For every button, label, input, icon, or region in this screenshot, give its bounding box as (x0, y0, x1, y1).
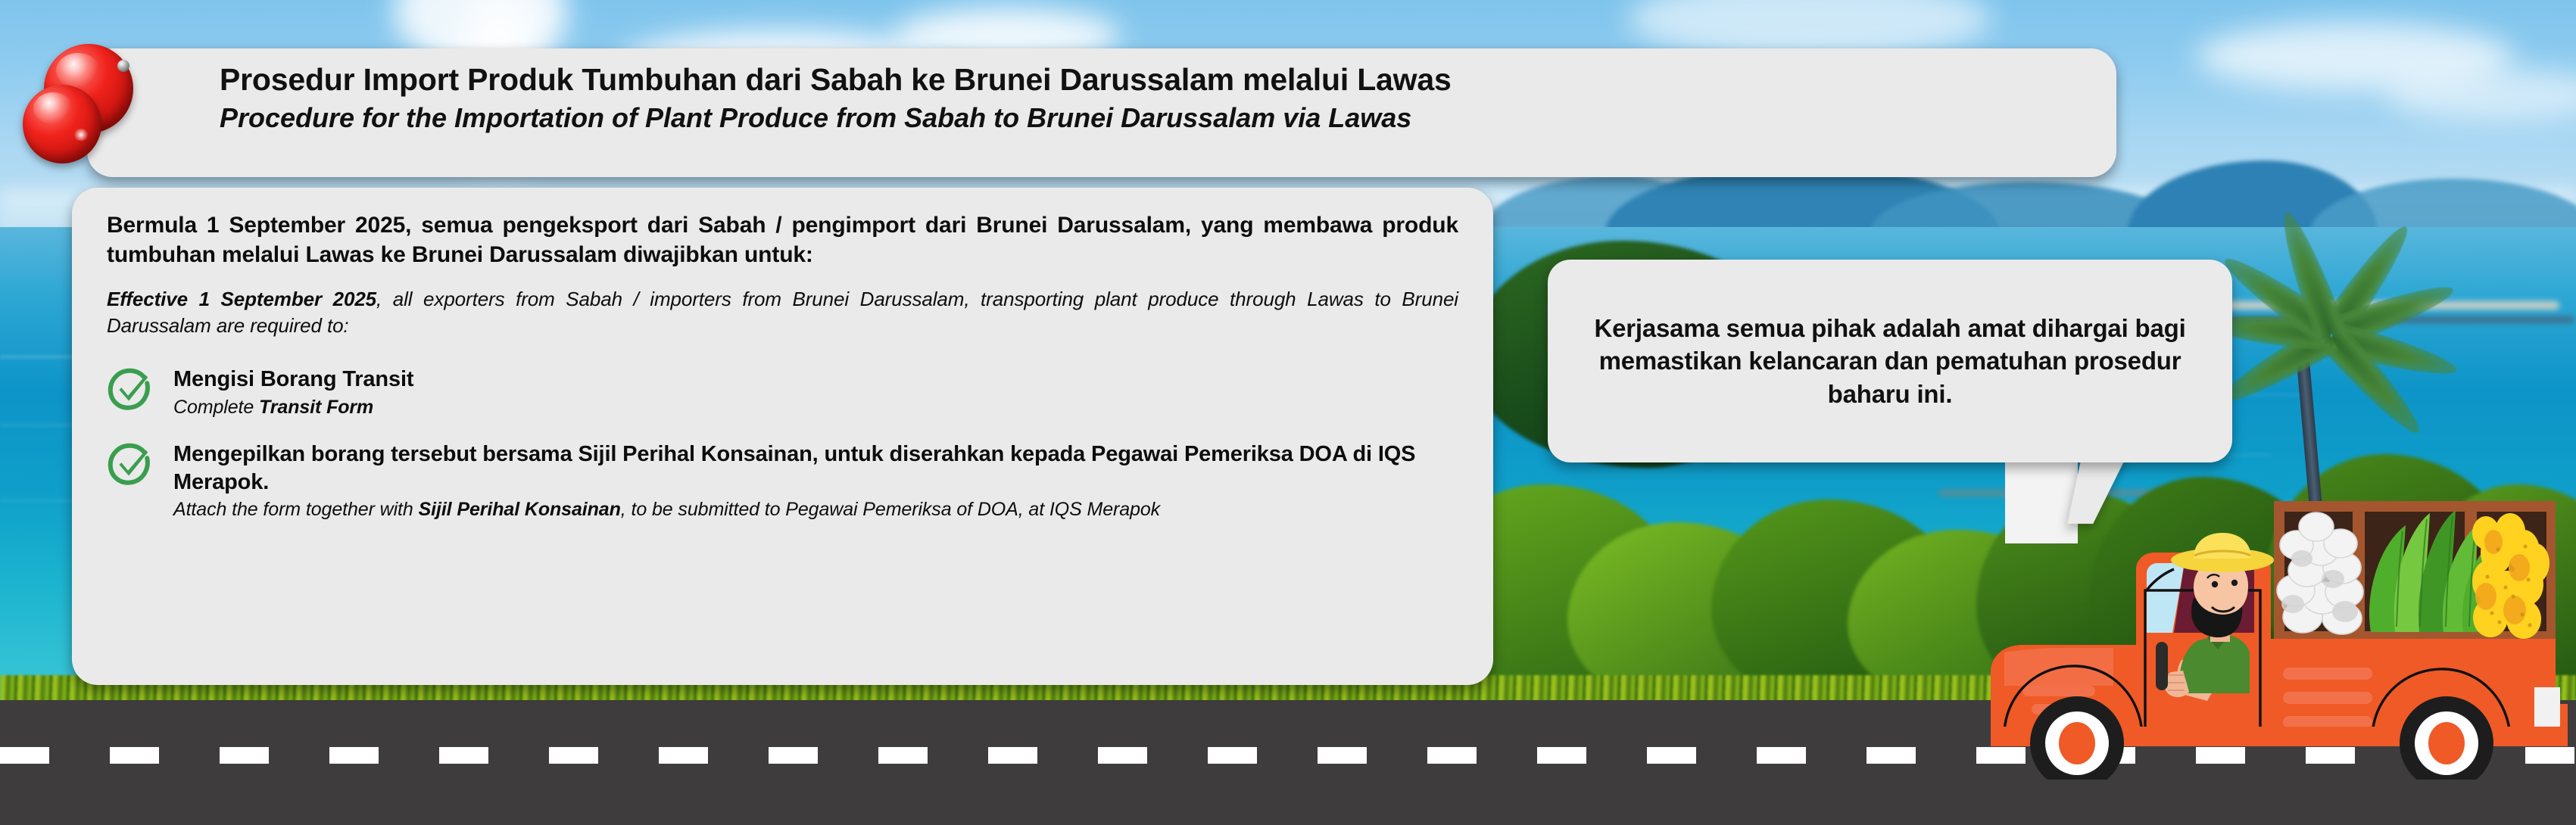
checklist-malay: Mengepilkan borang tersebut bersama Siji… (173, 441, 1458, 496)
intro-english-bold: Effective 1 September 2025 (107, 288, 376, 310)
intro-paragraph-malay: Bermula 1 September 2025, semua pengeksp… (107, 210, 1458, 269)
speech-bubble-text: Kerjasama semua pihak adalah amat diharg… (1576, 312, 2203, 411)
intro-paragraph-english: Effective 1 September 2025, all exporter… (107, 286, 1458, 338)
pushpin-needle (117, 60, 129, 72)
pushpin-highlight (73, 129, 89, 141)
checklist-english-bold: Sijil Perihal Konsainan (419, 499, 621, 520)
requirements-checklist: Mengisi Borang Transit Complete Transit … (107, 364, 1458, 522)
checklist-malay: Mengisi Borang Transit (173, 366, 1458, 394)
main-content-card: Bermula 1 September 2025, semua pengeksp… (72, 188, 1493, 685)
header-title-card: Prosedur Import Produk Tumbuhan dari Sab… (87, 48, 2116, 177)
pushpin-gloss (56, 53, 100, 88)
checklist-english: Complete Transit Form (173, 395, 1458, 420)
speech-bubble: Kerjasama semua pihak adalah amat diharg… (1548, 260, 2232, 462)
title-malay: Prosedur Import Produk Tumbuhan dari Sab… (220, 62, 2116, 98)
cargo-crate (2274, 501, 2556, 641)
checklist-english-bold: Transit Form (259, 397, 373, 418)
checklist-item: Mengepilkan borang tersebut bersama Siji… (107, 439, 1458, 522)
checklist-item-text: Mengisi Borang Transit Complete Transit … (173, 364, 1458, 419)
checklist-item-text: Mengepilkan borang tersebut bersama Siji… (173, 439, 1458, 522)
checklist-english-pre: Attach the form together with (173, 499, 419, 520)
checklist-english-post: , to be submitted to Pegawai Pemeriksa o… (621, 499, 1160, 520)
orange-pickup-truck-icon (1957, 477, 2576, 780)
checklist-english-pre: Complete (173, 397, 259, 418)
checklist-item: Mengisi Borang Transit Complete Transit … (107, 364, 1458, 419)
checklist-english: Attach the form together with Sijil Peri… (173, 497, 1458, 522)
red-pushpin-icon (17, 32, 161, 172)
title-english: Procedure for the Importation of Plant P… (220, 101, 2116, 134)
green-check-circle-icon (107, 441, 154, 487)
intro-malay-bold: Bermula 1 September 2025, (107, 213, 411, 238)
green-check-circle-icon (107, 366, 154, 412)
pushpin-gloss (33, 92, 73, 124)
